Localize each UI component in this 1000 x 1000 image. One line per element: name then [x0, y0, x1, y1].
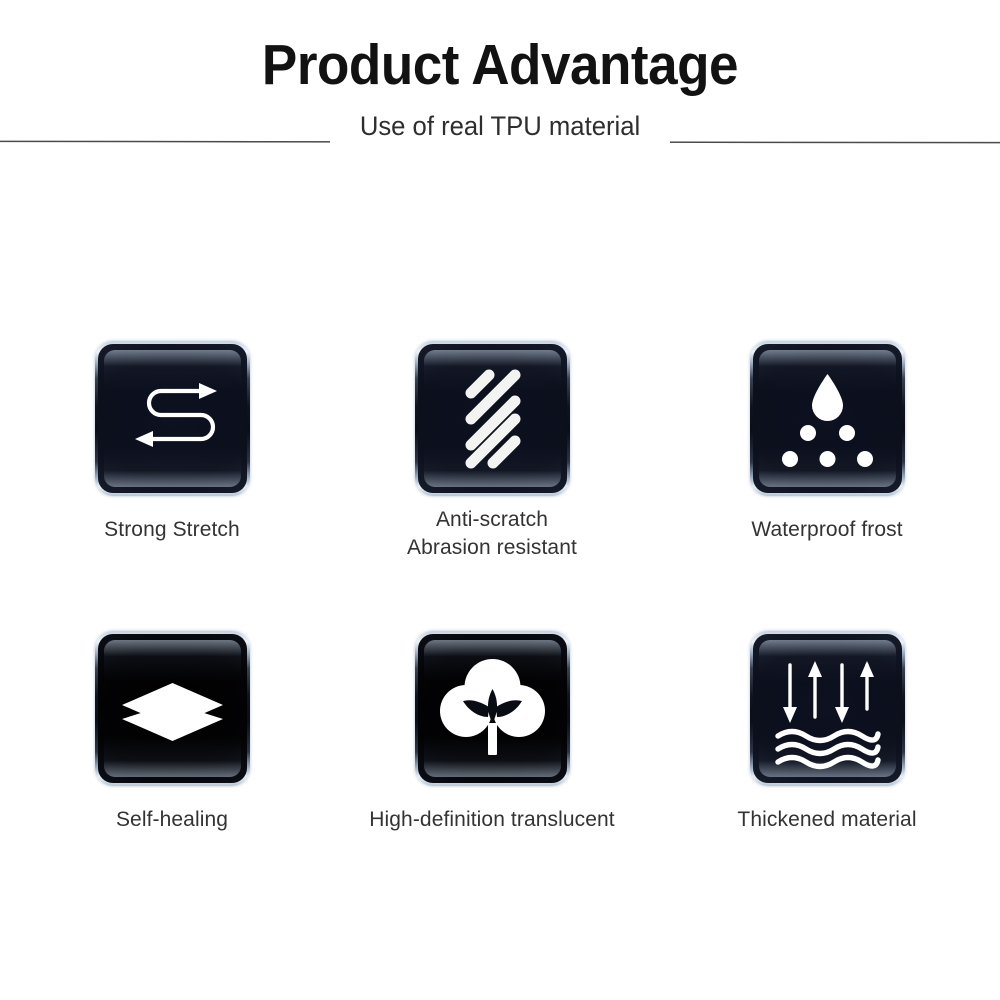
- feature-caption-line1: Waterproof frost: [751, 518, 902, 541]
- feature-row-2: Self-healing: [0, 631, 1000, 921]
- feature-caption-line1: Strong Stretch: [104, 518, 240, 541]
- feature-caption: Thickened material: [677, 806, 977, 834]
- feature-caption-line1: Thickened material: [737, 808, 916, 831]
- feature-caption: Strong Stretch: [22, 516, 322, 544]
- feature-tile: [415, 341, 570, 496]
- page-title: Product Advantage: [35, 36, 965, 96]
- feature-tile: [415, 631, 570, 786]
- feature-caption-line1: High-definition translucent: [369, 808, 615, 831]
- feature-card-high-definition-translucent[interactable]: High-definition translucent: [342, 631, 642, 834]
- feature-card-strong-stretch[interactable]: Strong Stretch: [22, 341, 322, 544]
- feature-caption-line1: Self-healing: [116, 808, 228, 831]
- water-droplet-icon: [750, 341, 905, 496]
- stretch-arrows-icon: [95, 341, 250, 496]
- feature-tile: [95, 631, 250, 786]
- feature-caption-line1: Anti-scratch: [436, 508, 548, 531]
- page-subtitle: Use of real TPU material: [25, 112, 975, 142]
- feature-card-self-healing[interactable]: Self-healing: [22, 631, 322, 834]
- feature-caption-line2: Abrasion resistant: [342, 534, 642, 562]
- feature-card-waterproof-frost[interactable]: Waterproof frost: [677, 341, 977, 544]
- page-header: Product Advantage Use of real TPU materi…: [0, 0, 1000, 160]
- feature-card-anti-scratch[interactable]: Anti-scratch Abrasion resistant: [342, 341, 642, 561]
- feature-tile: [95, 341, 250, 496]
- feature-tile: [750, 341, 905, 496]
- feature-caption: High-definition translucent: [342, 806, 642, 834]
- feature-caption: Self-healing: [22, 806, 322, 834]
- thickness-arrows-waves-icon: [750, 631, 905, 786]
- feature-card-thickened-material[interactable]: Thickened material: [677, 631, 977, 834]
- feature-tile: [750, 631, 905, 786]
- feature-row-1: Strong Stretch: [0, 341, 1000, 631]
- layers-stack-icon: [95, 631, 250, 786]
- feature-grid: Strong Stretch: [0, 341, 1000, 921]
- cotton-plant-icon: [415, 631, 570, 786]
- feature-caption: Waterproof frost: [677, 516, 977, 544]
- scratch-lines-icon: [415, 341, 570, 496]
- feature-caption: Anti-scratch Abrasion resistant: [342, 506, 642, 561]
